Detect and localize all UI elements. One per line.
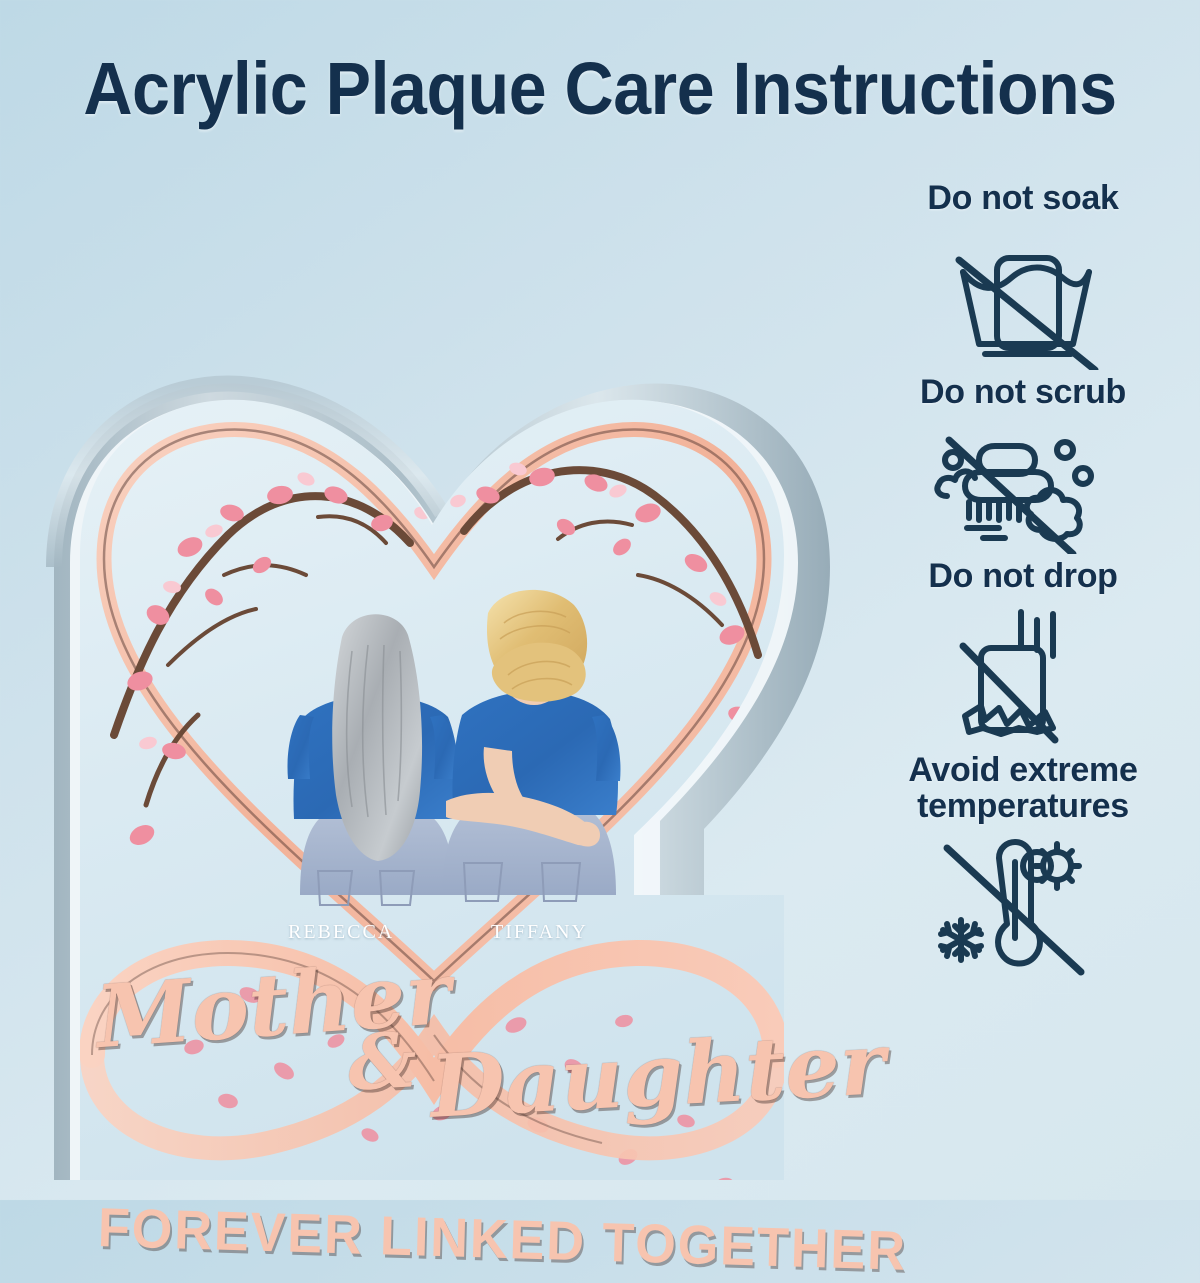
- care-instructions-page: Acrylic Plaque Care Instructions: [0, 0, 1200, 1200]
- no-drop-icon: [846, 598, 1200, 748]
- care-label-line-1: Avoid extreme: [846, 752, 1200, 788]
- care-label-no-drop: Do not drop: [846, 558, 1200, 594]
- care-item-no-drop: Do not drop: [846, 558, 1200, 748]
- plaque-tagline: FOREVER LINKED TOGETHER: [97, 1195, 801, 1280]
- personalized-names: REBECCA TIFFANY: [288, 921, 588, 944]
- no-scrub-icon: [846, 414, 1200, 554]
- care-item-no-soak: Do not soak: [846, 180, 1200, 370]
- care-label-line-2: temperatures: [846, 788, 1200, 824]
- care-label-no-soak: Do not soak: [846, 180, 1200, 216]
- name-left: REBECCA: [288, 921, 394, 944]
- care-item-avoid-extreme-temperatures: Avoid extreme temperatures: [846, 752, 1200, 978]
- no-extreme-temperature-icon: [846, 828, 1200, 978]
- care-label-no-scrub: Do not scrub: [846, 374, 1200, 410]
- care-instruction-list: Do not soak Do not scrub: [846, 180, 1200, 982]
- name-right: TIFFANY: [491, 921, 588, 944]
- acrylic-plaque-product-image: REBECCA TIFFANY Mother & Daughter FOREVE…: [18, 195, 848, 1180]
- care-label-avoid-extreme-temperatures: Avoid extreme temperatures: [846, 752, 1200, 824]
- care-item-no-scrub: Do not scrub: [846, 374, 1200, 554]
- no-soak-icon: [846, 220, 1200, 370]
- page-title: Acrylic Plaque Care Instructions: [48, 46, 1152, 131]
